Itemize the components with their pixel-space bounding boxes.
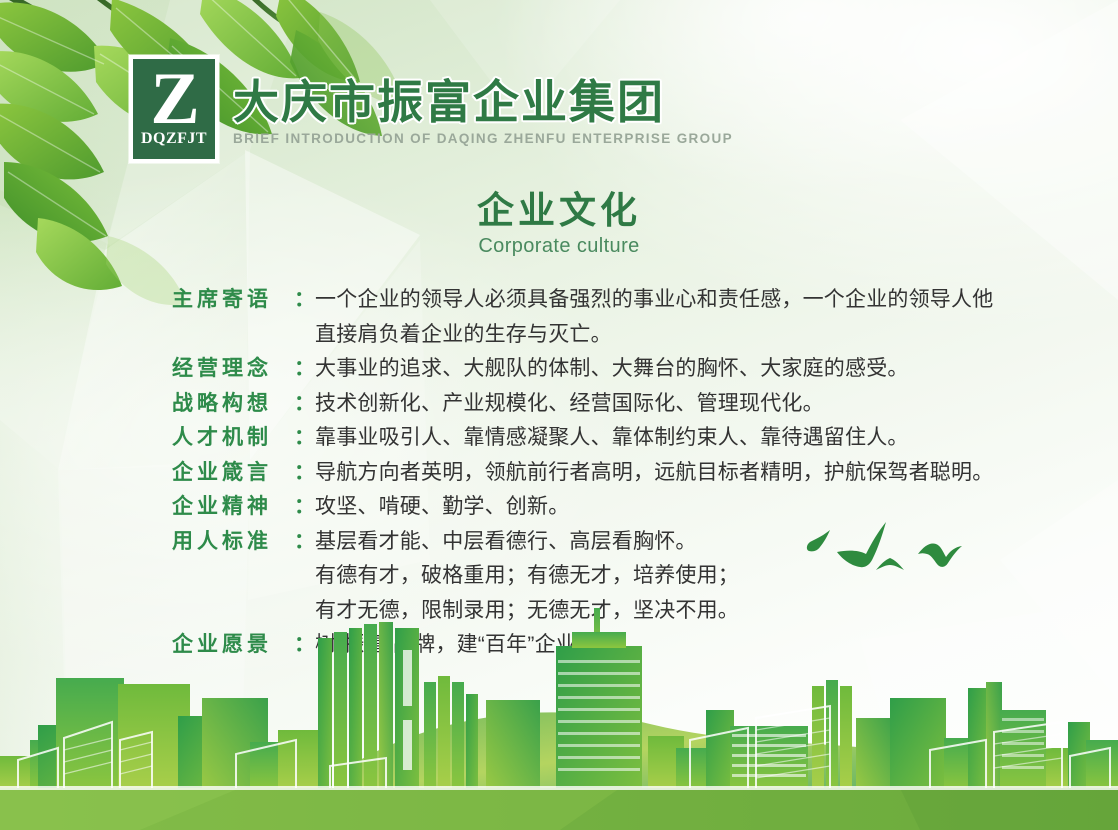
culture-row-colon: ： bbox=[294, 525, 315, 560]
brand-name-en: BRIEF INTRODUCTION OF DAQING ZHENFU ENTE… bbox=[233, 131, 733, 146]
culture-row-label: 企业箴言 bbox=[172, 456, 294, 491]
page-title-cn: 企业文化 bbox=[0, 190, 1118, 233]
culture-row: 经营理念：大事业的追求、大舰队的体制、大舞台的胸怀、大家庭的感受。 bbox=[172, 352, 1002, 387]
culture-row-label: 战略构想 bbox=[172, 387, 294, 422]
culture-row: 企业箴言：导航方向者英明，领航前行者高明，远航目标者精明，护航保驾者聪明。 bbox=[172, 456, 1002, 491]
culture-row-body: 基层看才能、中层看德行、高层看胸怀。有德有才，破格重用；有德无才，培养使用；有才… bbox=[315, 525, 1002, 629]
culture-row-body: 攻坚、啃硬、勤学、创新。 bbox=[315, 490, 1002, 525]
culture-row-colon: ： bbox=[294, 352, 315, 387]
culture-row-line: 大事业的追求、大舰队的体制、大舞台的胸怀、大家庭的感受。 bbox=[315, 352, 1002, 387]
culture-row-line: 靠事业吸引人、靠情感凝聚人、靠体制约束人、靠待遇留住人。 bbox=[315, 421, 1002, 456]
company-logo: Z DQZFJT bbox=[129, 55, 219, 163]
culture-row-colon: ： bbox=[294, 628, 315, 663]
culture-row-colon: ： bbox=[294, 421, 315, 456]
culture-row-colon: ： bbox=[294, 490, 315, 525]
logo-abbr-text: DQZFJT bbox=[141, 130, 207, 148]
culture-row-body: 靠事业吸引人、靠情感凝聚人、靠体制约束人、靠待遇留住人。 bbox=[315, 421, 1002, 456]
culture-row-line: 技术创新化、产业规模化、经营国际化、管理现代化。 bbox=[315, 387, 1002, 422]
culture-row-label: 经营理念 bbox=[172, 352, 294, 387]
culture-row-label: 企业精神 bbox=[172, 490, 294, 525]
poster-root: Z DQZFJT 大庆市振富企业集团 BRIEF INTRODUCTION OF… bbox=[0, 0, 1118, 830]
culture-row-line: 树“振富”品牌，建“百年”企业。 bbox=[315, 628, 1002, 663]
culture-row-line: 导航方向者英明，领航前行者高明，远航目标者精明，护航保驾者聪明。 bbox=[315, 456, 1002, 491]
culture-row: 战略构想：技术创新化、产业规模化、经营国际化、管理现代化。 bbox=[172, 387, 1002, 422]
culture-row: 主席寄语：一个企业的领导人必须具备强烈的事业心和责任感，一个企业的领导人他直接肩… bbox=[172, 283, 1002, 352]
culture-list: 主席寄语：一个企业的领导人必须具备强烈的事业心和责任感，一个企业的领导人他直接肩… bbox=[172, 283, 1002, 663]
culture-row-line: 有德有才，破格重用；有德无才，培养使用； bbox=[315, 559, 1002, 594]
culture-row-colon: ： bbox=[294, 387, 315, 422]
page-title-en: Corporate culture bbox=[0, 235, 1118, 258]
brand-titles: 大庆市振富企业集团 BRIEF INTRODUCTION OF DAQING Z… bbox=[233, 55, 733, 146]
brand-name-cn: 大庆市振富企业集团 bbox=[233, 77, 733, 129]
brand-header: Z DQZFJT 大庆市振富企业集团 BRIEF INTRODUCTION OF… bbox=[129, 55, 733, 163]
culture-row: 人才机制：靠事业吸引人、靠情感凝聚人、靠体制约束人、靠待遇留住人。 bbox=[172, 421, 1002, 456]
culture-row: 企业愿景：树“振富”品牌，建“百年”企业。 bbox=[172, 628, 1002, 663]
culture-row-line: 直接肩负着企业的生存与灭亡。 bbox=[315, 318, 1002, 353]
culture-row: 企业精神：攻坚、啃硬、勤学、创新。 bbox=[172, 490, 1002, 525]
culture-row-label: 人才机制 bbox=[172, 421, 294, 456]
culture-row-body: 技术创新化、产业规模化、经营国际化、管理现代化。 bbox=[315, 387, 1002, 422]
culture-row-label: 用人标准 bbox=[172, 525, 294, 560]
culture-row-body: 树“振富”品牌，建“百年”企业。 bbox=[315, 628, 1002, 663]
culture-row-line: 一个企业的领导人必须具备强烈的事业心和责任感，一个企业的领导人他 bbox=[315, 283, 1002, 318]
culture-row-body: 一个企业的领导人必须具备强烈的事业心和责任感，一个企业的领导人他直接肩负着企业的… bbox=[315, 283, 1002, 352]
culture-row-colon: ： bbox=[294, 283, 315, 318]
culture-row: 用人标准：基层看才能、中层看德行、高层看胸怀。有德有才，破格重用；有德无才，培养… bbox=[172, 525, 1002, 629]
culture-row-body: 大事业的追求、大舰队的体制、大舞台的胸怀、大家庭的感受。 bbox=[315, 352, 1002, 387]
culture-row-line: 有才无德，限制录用；无德无才，坚决不用。 bbox=[315, 594, 1002, 629]
culture-row-label: 企业愿景 bbox=[172, 628, 294, 663]
culture-row-line: 攻坚、啃硬、勤学、创新。 bbox=[315, 490, 1002, 525]
culture-row-body: 导航方向者英明，领航前行者高明，远航目标者精明，护航保驾者聪明。 bbox=[315, 456, 1002, 491]
page-title: 企业文化 Corporate culture bbox=[0, 190, 1118, 258]
culture-row-line: 基层看才能、中层看德行、高层看胸怀。 bbox=[315, 525, 1002, 560]
culture-row-colon: ： bbox=[294, 456, 315, 491]
culture-row-label: 主席寄语 bbox=[172, 283, 294, 318]
logo-letter-z: Z bbox=[150, 64, 197, 134]
